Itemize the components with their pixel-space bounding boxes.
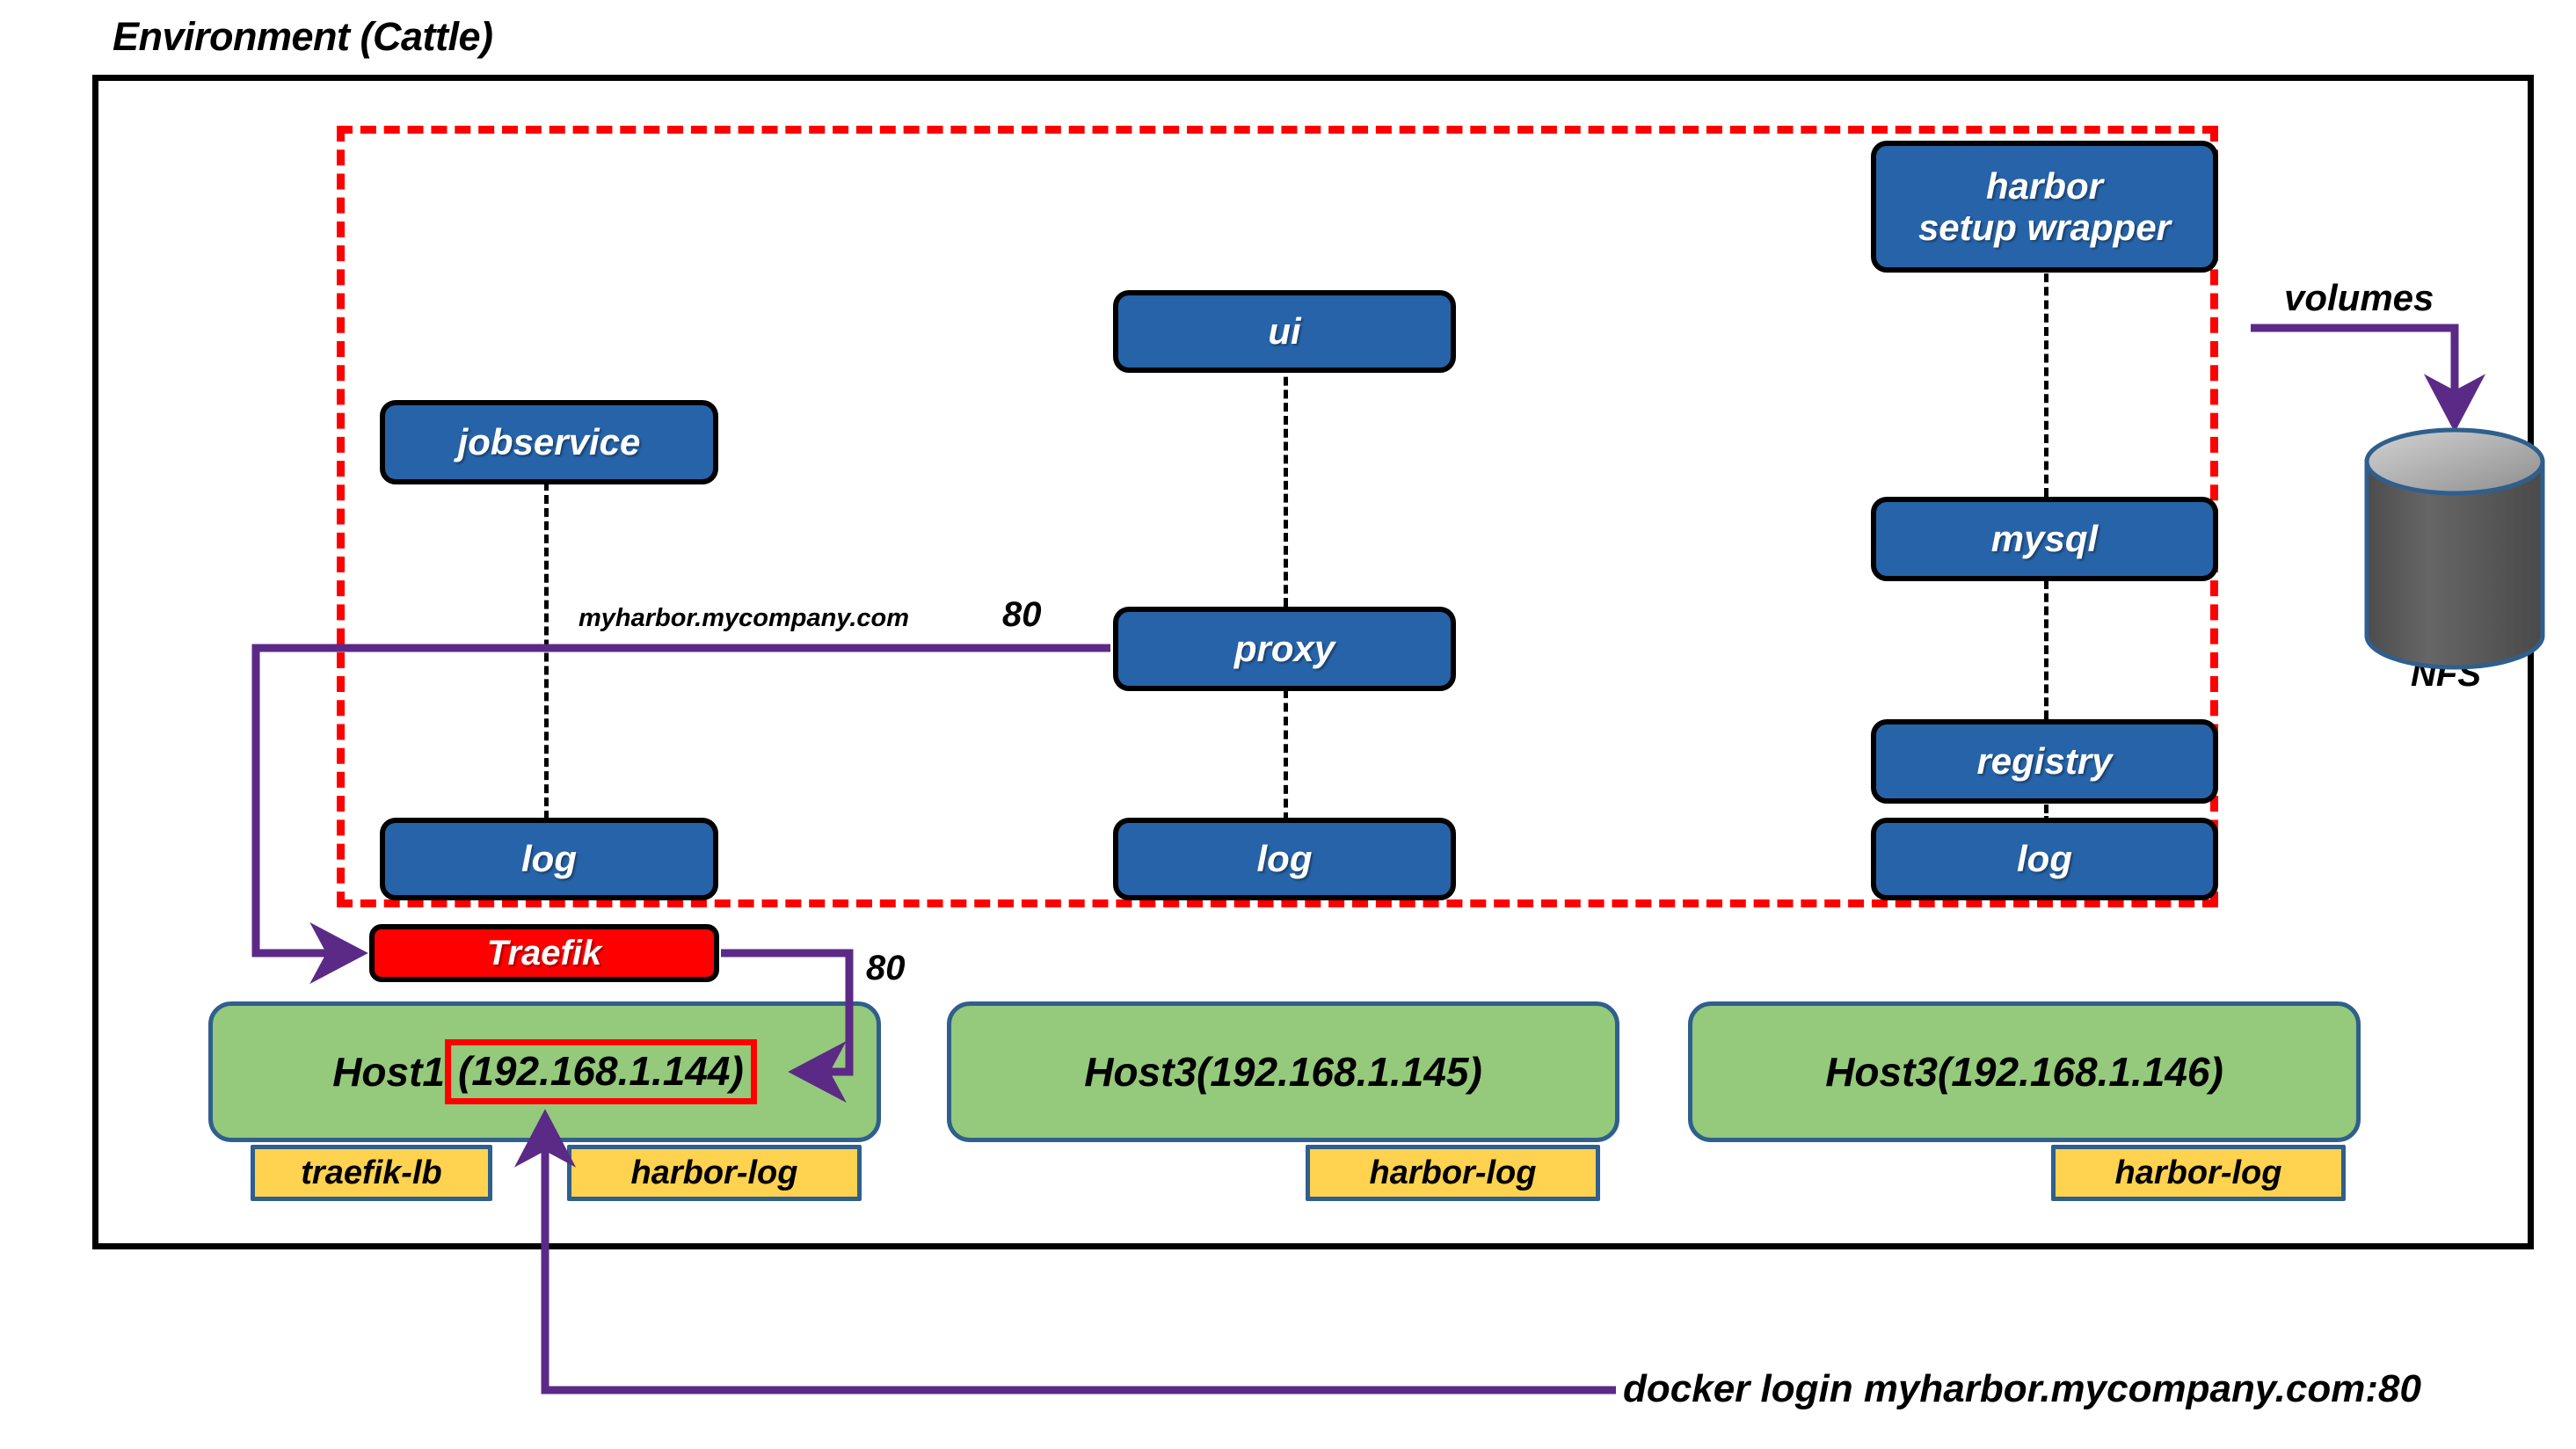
service-mysql-label: mysql (1991, 518, 2098, 559)
service-log-middle-label: log (1257, 838, 1313, 879)
service-proxy[interactable]: proxy (1113, 607, 1456, 691)
environment-title: Environment (Cattle) (113, 14, 493, 60)
service-log-left-label: log (521, 838, 577, 879)
annotation-volumes: volumes (2284, 277, 2434, 319)
tag-host1-harbor-log[interactable]: harbor-log (567, 1145, 862, 1201)
service-harbor-setup-wrapper-line1: harbor (1986, 165, 2103, 207)
host1-name: Host1 (332, 1048, 445, 1096)
service-log-left[interactable]: log (380, 818, 718, 900)
service-harbor-setup-wrapper-line2: setup wrapper (1918, 207, 2171, 248)
service-proxy-label: proxy (1234, 628, 1335, 669)
host3-name: Host3 (1825, 1048, 1938, 1096)
tag-host1-harbor-log-label: harbor-log (631, 1154, 798, 1192)
link-proxy-log (1284, 689, 1288, 821)
annotation-nfs: NFS (2411, 655, 2481, 695)
service-registry-label: registry (1976, 740, 2112, 782)
service-ui-label: ui (1268, 310, 1300, 352)
traefik-label: Traefik (487, 934, 601, 973)
service-harbor-setup-wrapper[interactable]: harbor setup wrapper (1871, 141, 2218, 273)
host2-name: Host3 (1084, 1048, 1197, 1096)
service-log-right[interactable]: log (1871, 818, 2218, 900)
service-jobservice-label: jobservice (458, 421, 641, 462)
host-host3[interactable]: Host3 (192.168.1.146) (1688, 1001, 2361, 1142)
service-registry[interactable]: registry (1871, 719, 2218, 804)
service-log-middle[interactable]: log (1113, 818, 1456, 900)
tag-host3-harbor-log[interactable]: harbor-log (2051, 1145, 2346, 1201)
service-log-right-label: log (2017, 838, 2072, 879)
host2-ip: (192.168.1.145) (1197, 1048, 1482, 1096)
tag-host1-traefik-lb-label: traefik-lb (301, 1154, 441, 1192)
annotation-port-traefik: 80 (866, 949, 906, 988)
annotation-hostname: myharbor.mycompany.com (579, 604, 909, 633)
host-host2[interactable]: Host3 (192.168.1.145) (947, 1001, 1619, 1142)
tag-host2-harbor-log-label: harbor-log (1370, 1154, 1537, 1192)
diagram-canvas: Environment (Cattle) jobservice log ui p… (0, 0, 2576, 1449)
link-jobservice-log (544, 482, 549, 819)
service-mysql[interactable]: mysql (1871, 497, 2218, 581)
host1-ip-highlighted: (192.168.1.144) (445, 1039, 757, 1104)
link-mysql-registry (2044, 580, 2048, 719)
link-ui-proxy (1284, 351, 1288, 607)
tag-host3-harbor-log-label: harbor-log (2115, 1154, 2282, 1192)
host-host1[interactable]: Host1 (192.168.1.144) (208, 1001, 881, 1142)
traefik-load-balancer[interactable]: Traefik (369, 924, 719, 982)
annotation-docker-login: docker login myharbor.mycompany.com:80 (1623, 1367, 2421, 1411)
tag-host2-harbor-log[interactable]: harbor-log (1306, 1145, 1600, 1201)
service-ui[interactable]: ui (1113, 290, 1456, 373)
host3-ip: (192.168.1.146) (1938, 1048, 2223, 1096)
annotation-port-proxy: 80 (1002, 595, 1042, 635)
tag-host1-traefik-lb[interactable]: traefik-lb (251, 1145, 492, 1201)
service-jobservice[interactable]: jobservice (380, 400, 718, 484)
